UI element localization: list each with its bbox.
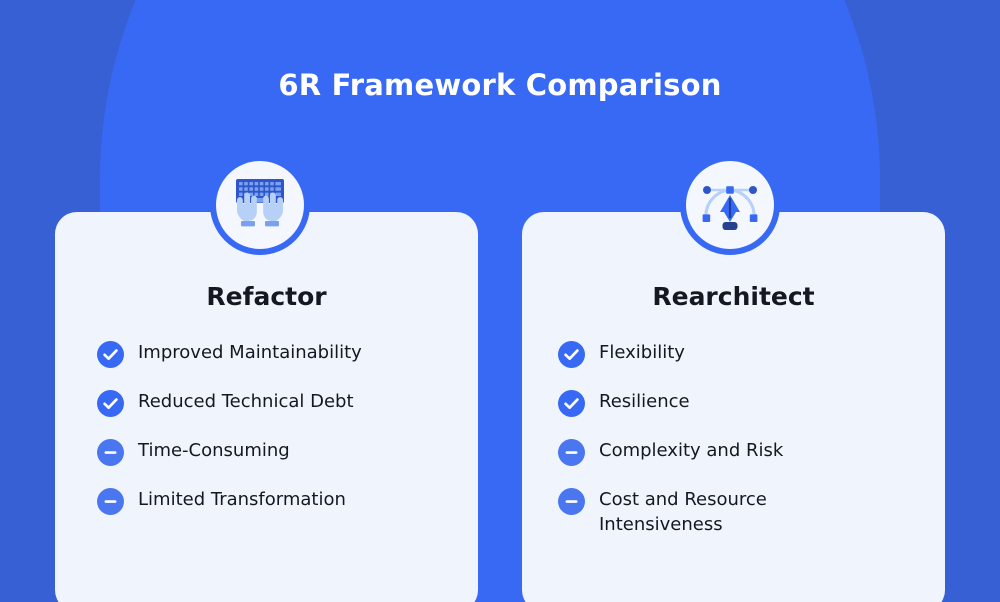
minus-icon: [558, 439, 585, 466]
list-item: Resilience: [558, 389, 925, 417]
card-title: Rearchitect: [522, 282, 945, 311]
list-item-label: Time-Consuming: [138, 438, 290, 463]
page-title: 6R Framework Comparison: [0, 68, 1000, 102]
list-item-label: Flexibility: [599, 340, 685, 365]
minus-icon: [97, 439, 124, 466]
list-item: Reduced Technical Debt: [97, 389, 458, 417]
check-icon: [558, 341, 585, 368]
minus-icon: [97, 488, 124, 515]
card-item-list: Flexibility Resilience Complexity and Ri…: [522, 340, 945, 558]
infographic-canvas: 6R Framework Comparison Refactor Improve…: [0, 0, 1000, 602]
list-item: Cost and Resource Intensiveness: [558, 487, 925, 537]
comparison-card-rearchitect: Rearchitect Flexibility Resilience: [522, 212, 945, 602]
list-item: Flexibility: [558, 340, 925, 368]
check-icon: [97, 341, 124, 368]
list-item: Complexity and Risk: [558, 438, 925, 466]
list-item: Time-Consuming: [97, 438, 458, 466]
list-item: Improved Maintainability: [97, 340, 458, 368]
minus-icon: [558, 488, 585, 515]
check-icon: [97, 390, 124, 417]
card-item-list: Improved Maintainability Reduced Technic…: [55, 340, 478, 536]
list-item: Limited Transformation: [97, 487, 458, 515]
check-icon: [558, 390, 585, 417]
list-item-label: Cost and Resource Intensiveness: [599, 487, 794, 537]
pen-tool-icon: [680, 155, 780, 255]
list-item-label: Reduced Technical Debt: [138, 389, 354, 414]
list-item-label: Improved Maintainability: [138, 340, 362, 365]
list-item-label: Resilience: [599, 389, 690, 414]
keyboard-hands-icon: [210, 155, 310, 255]
list-item-label: Limited Transformation: [138, 487, 346, 512]
list-item-label: Complexity and Risk: [599, 438, 783, 463]
card-title: Refactor: [55, 282, 478, 311]
comparison-card-refactor: Refactor Improved Maintainability Reduce…: [55, 212, 478, 602]
